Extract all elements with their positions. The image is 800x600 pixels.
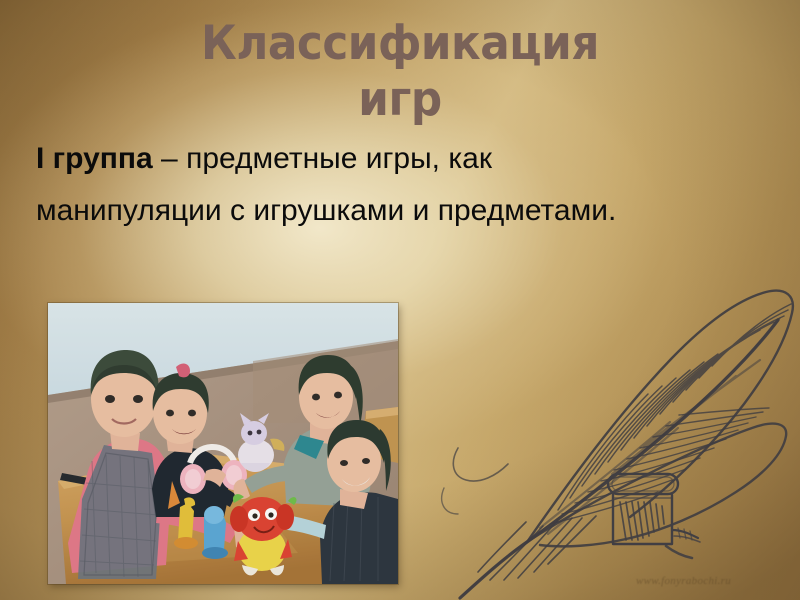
- quill-feather-icon: [430, 180, 800, 600]
- classroom-photo: [48, 303, 398, 584]
- body-text: I группа – предметные игры, как манипуля…: [36, 133, 636, 237]
- slide-canvas: www.fonyrabochi.ru Классификация игр I г…: [0, 0, 800, 600]
- watermark-text: www.fonyrabochi.ru: [636, 575, 796, 587]
- body-text-lead: I группа: [36, 142, 153, 175]
- page-title: Классификация игр: [84, 16, 716, 128]
- inkwell-icon: [600, 468, 710, 573]
